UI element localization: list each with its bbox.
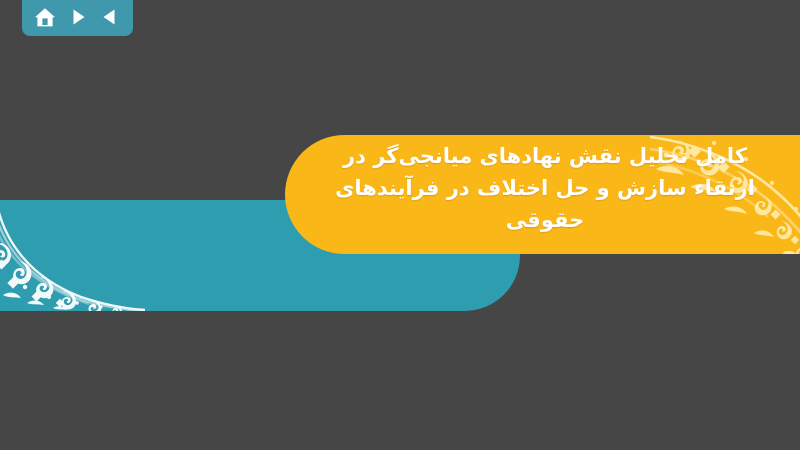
home-icon xyxy=(34,7,56,28)
triangle-left-icon xyxy=(100,7,120,27)
orange-ribbon xyxy=(285,135,800,254)
home-button[interactable] xyxy=(31,4,59,30)
back-button[interactable] xyxy=(96,4,124,30)
triangle-right-icon xyxy=(68,7,88,27)
navigation-bar xyxy=(22,0,133,36)
presentation-slide: کامل تحلیل نقش نهادهای میانجی‌گر در ارتق… xyxy=(0,0,800,450)
arabesque-ornament-teal xyxy=(0,200,145,311)
arabesque-ornament-orange xyxy=(650,135,800,254)
forward-button[interactable] xyxy=(64,4,92,30)
